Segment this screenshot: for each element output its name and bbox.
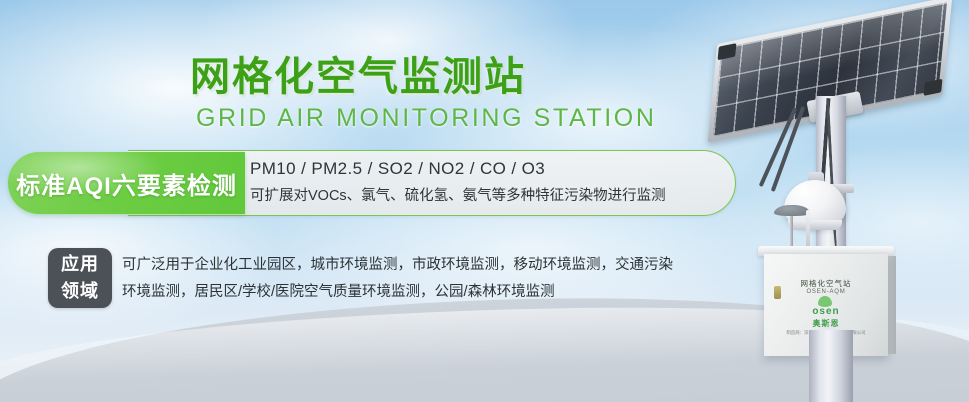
application-badge-line1: 应用 [61, 251, 99, 278]
panel-corner-bottom [924, 79, 943, 96]
brand-logo-cn: 奥斯恩 [764, 318, 888, 329]
application-badge-line2: 领域 [61, 278, 99, 305]
aqi-badge: 标准AQI六要素检测 [8, 152, 245, 214]
dome-camera-rim [788, 220, 842, 230]
brand-logo-en: osen [764, 306, 888, 317]
pole-base [809, 330, 853, 402]
product-banner: 网格化空气监测站 GRID AIR MONITORING STATION PM1… [0, 0, 969, 402]
product-image: 网格化空气站 OSEN-AQM osen 奥斯恩 制造商：深圳市奥斯恩净化技术有… [690, 0, 969, 402]
aqi-badge-label: 标准AQI六要素检测 [16, 166, 237, 201]
spec-extension: 可扩展对VOCs、氯气、硫化氢、氨气等多种特征污染物进行监测 [250, 184, 680, 208]
air-inlet-sensor-icon [774, 205, 810, 216]
page-subtitle: GRID AIR MONITORING STATION [196, 104, 657, 133]
application-text-block: 可广泛用于企业化工业园区，城市环境监测，市政环境监测，移动环境监测，交通污染 环… [122, 252, 702, 306]
application-line-1: 可广泛用于企业化工业园区，城市环境监测，市政环境监测，移动环境监测，交通污染 [122, 252, 702, 279]
cabinet-model: OSEN-AQM [764, 289, 888, 295]
sensor-stem [790, 212, 793, 248]
application-badge: 应用 领域 [48, 248, 112, 308]
page-title: 网格化空气监测站 [190, 44, 526, 102]
cabinet-title: 网格化空气站 [764, 278, 888, 289]
application-line-2: 环境监测，居民区/学校/医院空气质量环境监测，公园/森林环境监测 [122, 279, 702, 306]
antenna-icon [806, 210, 810, 250]
spec-parameters: PM10 / PM2.5 / SO2 / NO2 / CO / O3 [250, 150, 680, 184]
spec-text-block: PM10 / PM2.5 / SO2 / NO2 / CO / O3 可扩展对V… [250, 150, 680, 208]
